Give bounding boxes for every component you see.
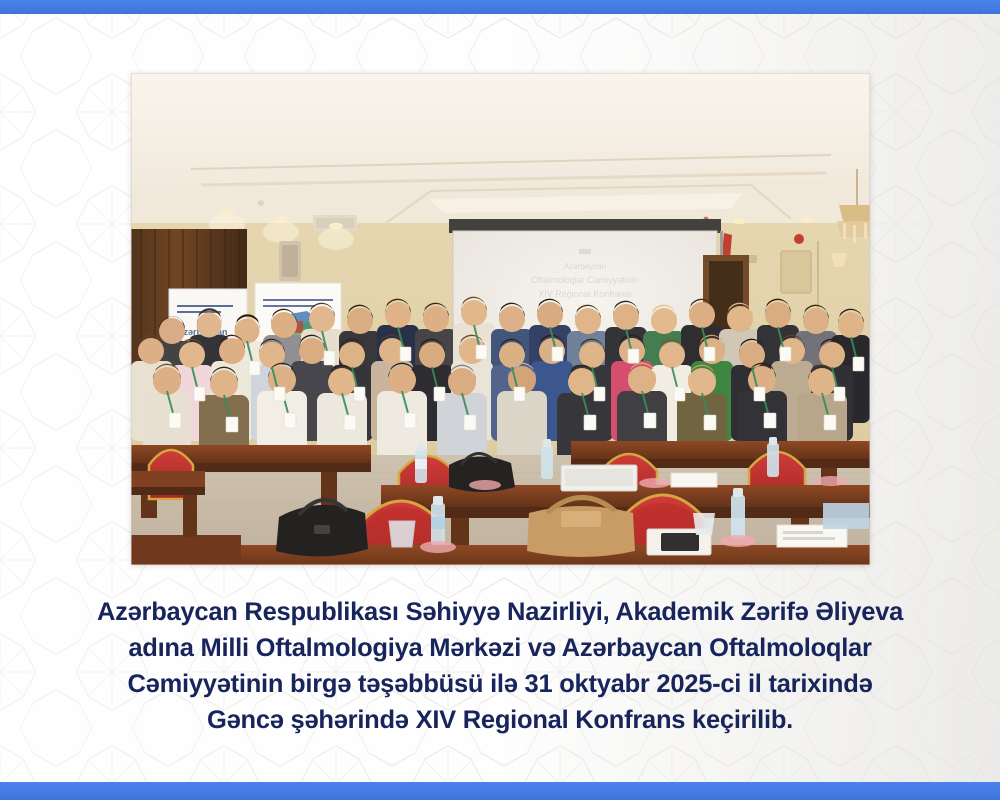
caption-line-1: Azərbaycan Respublikası Səhiyyə Nazirliy… (60, 594, 940, 630)
conference-group-photo: Azərbaycan Oftalmoloqlar Cəmiyyətinin XI… (131, 73, 870, 565)
caption-line-3: Cəmiyyətinin birgə təşəbbüsü ilə 31 okty… (60, 666, 940, 702)
poster-canvas: Azərbaycan Oftalmoloqlar Cəmiyyətinin XI… (0, 0, 1000, 800)
caption-line-4: Gəncə şəhərində XIV Regional Konfrans ke… (60, 702, 940, 738)
caption-line-2: adına Milli Oftalmologiya Mərkəzi və Azə… (60, 630, 940, 666)
bottom-accent-bar (0, 782, 1000, 800)
caption-text: Azərbaycan Respublikası Səhiyyə Nazirliy… (60, 594, 940, 738)
top-accent-bar (0, 0, 1000, 14)
